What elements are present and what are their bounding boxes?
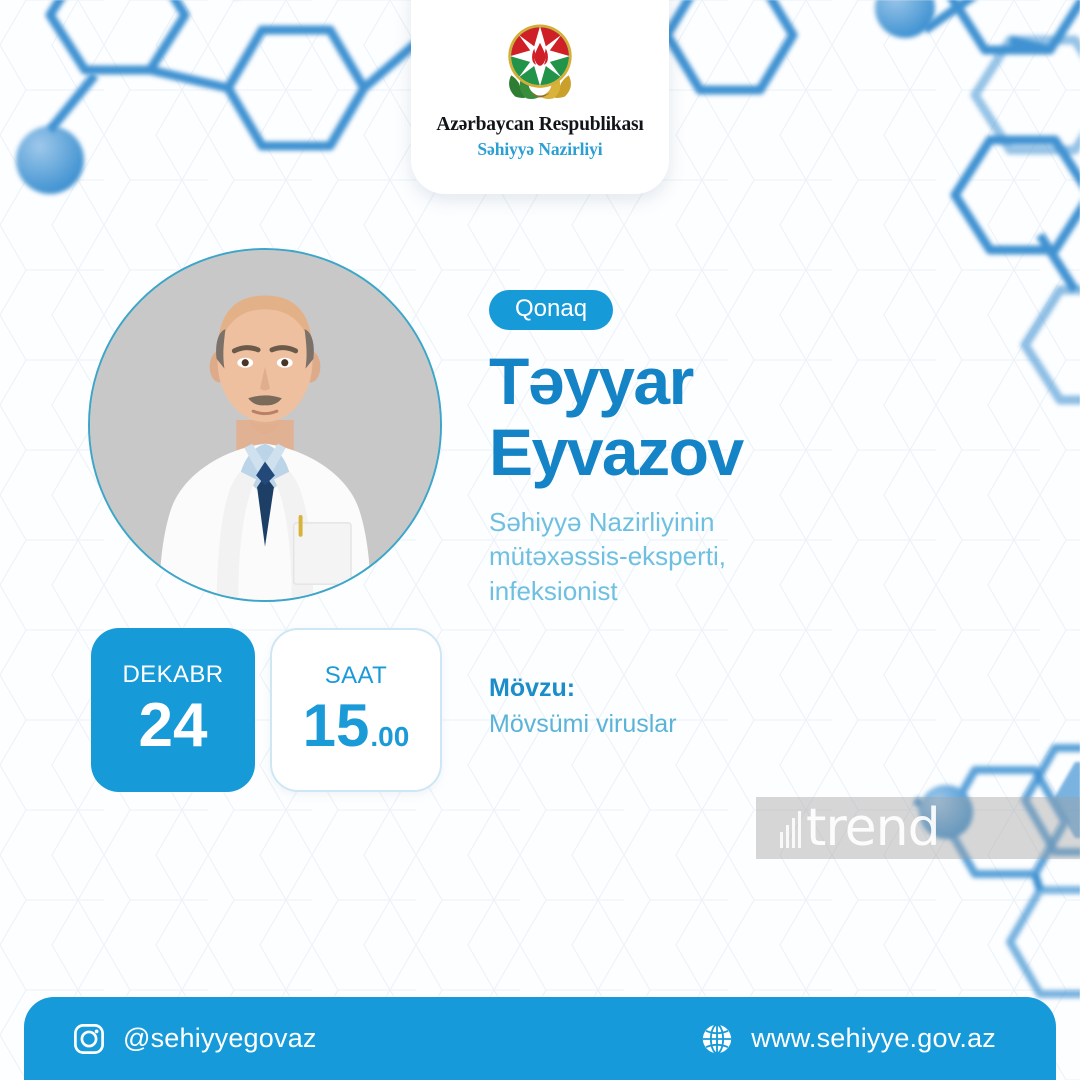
speaker-name: Təyyar Eyvazov (489, 346, 1009, 489)
trend-bars-icon (780, 808, 801, 848)
ministry-name-line1: Azərbaycan Respublikası (436, 114, 643, 136)
ministry-logo-card: Azərbaycan Respublikası Səhiyyə Nazirliy… (411, 0, 669, 194)
website-url[interactable]: www.sehiyye.gov.az (751, 1023, 996, 1054)
speaker-photo-illustration-icon (90, 250, 440, 600)
topic-value: Mövsümi viruslar (489, 708, 989, 741)
speaker-title-line1: Səhiyyə Nazirliyinin (489, 505, 1009, 540)
footer-bar: @sehiyyegovaz www.sehiyye.gov.az (24, 997, 1056, 1080)
speaker-title-line2: mütəxəssis-eksperti, (489, 539, 1009, 574)
website-link[interactable]: www.sehiyye.gov.az (700, 1022, 996, 1056)
date-month-label: DEKABR (122, 663, 223, 687)
time-minute-value: .00 (370, 723, 409, 751)
topic-label: Mövzu: (489, 672, 989, 705)
time-hour-value: 15 (303, 696, 370, 756)
speaker-info-block: Qonaq Təyyar Eyvazov Səhiyyə Nazirliyini… (489, 290, 1009, 608)
date-day-value: 24 (139, 695, 208, 757)
date-card: DEKABR 24 (91, 628, 255, 792)
speaker-title: Səhiyyə Nazirliyinin mütəxəssis-eksperti… (489, 505, 1009, 609)
time-card: SAAT 15 .00 (270, 628, 442, 792)
topic-block: Mövzu: Mövsümi viruslar (489, 672, 989, 740)
instagram-handle[interactable]: @sehiyyegovaz (123, 1023, 317, 1054)
poster-canvas: Azərbaycan Respublikası Səhiyyə Nazirliy… (0, 0, 1080, 1080)
speaker-last-name: Eyvazov (489, 417, 1009, 488)
trend-watermark-text: trend (806, 802, 940, 854)
azerbaijan-state-emblem-icon (492, 12, 588, 108)
instagram-link[interactable]: @sehiyyegovaz (72, 1022, 317, 1056)
instagram-icon[interactable] (72, 1022, 106, 1056)
ministry-name-line2: Səhiyyə Nazirliyi (477, 139, 602, 160)
trend-watermark: trend (756, 797, 1080, 859)
speaker-title-line3: infeksionist (489, 574, 1009, 609)
speaker-portrait (88, 248, 442, 602)
globe-icon[interactable] (700, 1022, 734, 1056)
time-value: 15 .00 (303, 696, 410, 756)
time-label: SAAT (325, 664, 388, 688)
speaker-first-name: Təyyar (489, 346, 1009, 417)
guest-badge: Qonaq (489, 290, 613, 330)
